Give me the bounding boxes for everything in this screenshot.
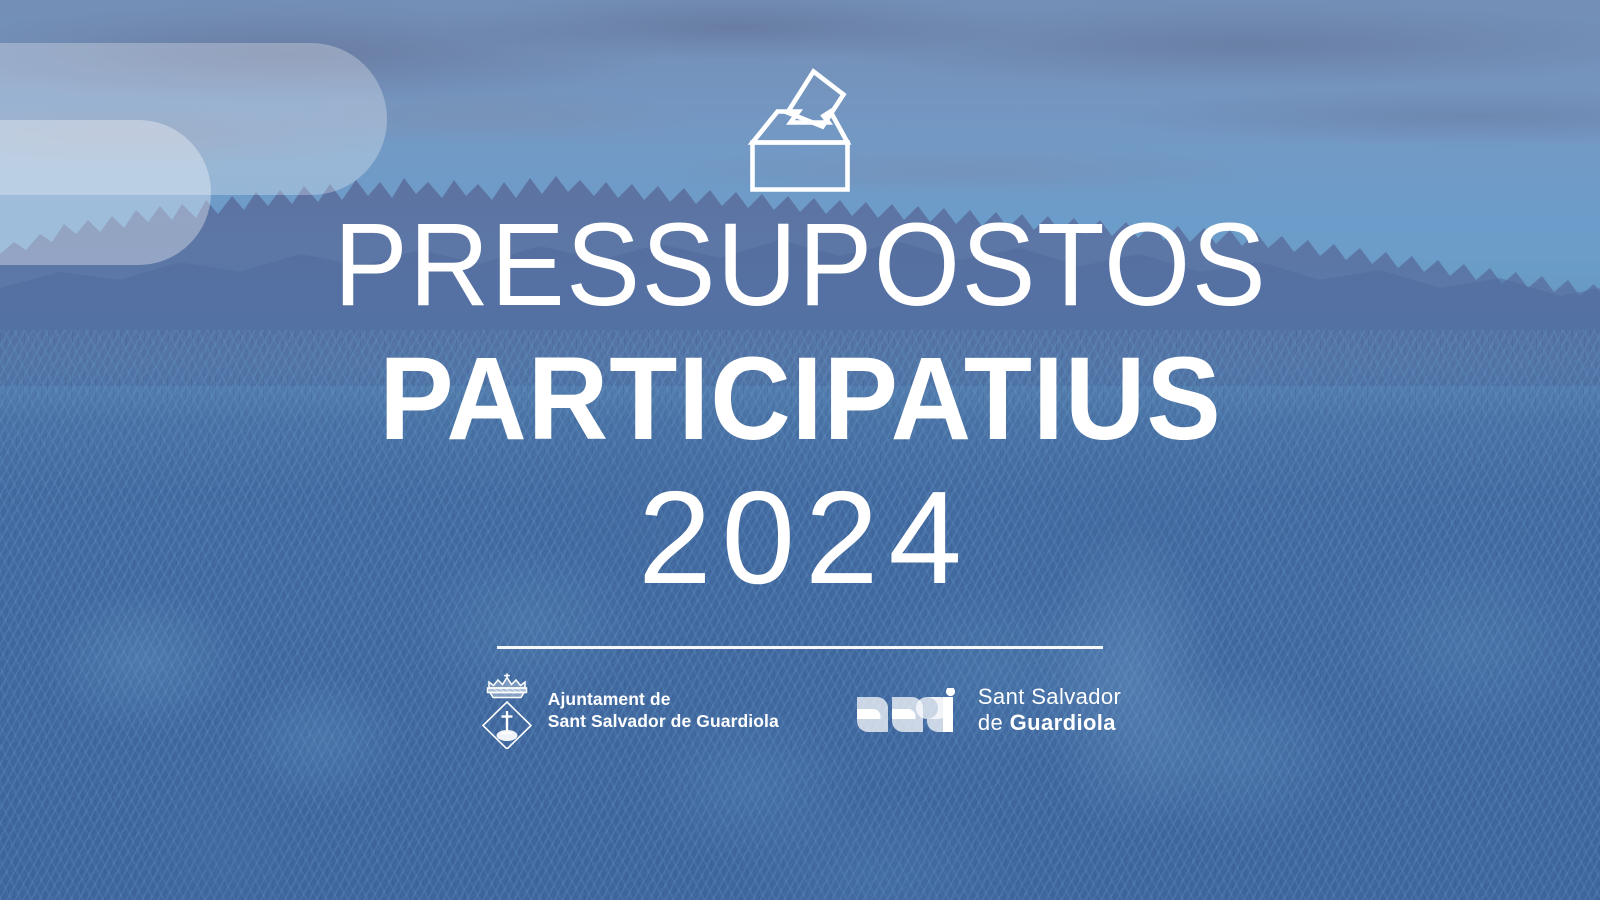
municipal-crest-icon	[479, 671, 535, 749]
title-line-2: PARTICIPATIUS	[331, 340, 1269, 458]
poster-content: PRESSUPOSTOS PARTICIPATIUS 2024	[0, 0, 1600, 900]
title-year: 2024	[304, 472, 1297, 604]
ssg-logomark-icon	[857, 688, 965, 732]
poster-titles: PRESSUPOSTOS PARTICIPATIUS 2024	[304, 206, 1297, 604]
ajuntament-logo-line-1: Ajuntament de	[548, 688, 779, 710]
ajuntament-logo-text: Ajuntament de Sant Salvador de Guardiola	[548, 688, 779, 733]
poster-canvas: PRESSUPOSTOS PARTICIPATIUS 2024	[0, 0, 1600, 900]
ssg-logo-line-2-light: de	[978, 710, 1010, 735]
horizontal-divider	[497, 646, 1103, 649]
ajuntament-logo: Ajuntament de Sant Salvador de Guardiola	[479, 671, 779, 749]
title-line-1: PRESSUPOSTOS	[333, 206, 1266, 324]
ajuntament-logo-line-2: Sant Salvador de Guardiola	[548, 710, 779, 732]
ssg-logo-line-1: Sant Salvador	[978, 684, 1121, 710]
logo-row: Ajuntament de Sant Salvador de Guardiola	[479, 671, 1122, 749]
ssg-logo-line-2-bold: Guardiola	[1010, 710, 1116, 735]
ssg-logo-text: Sant Salvador de Guardiola	[978, 684, 1121, 736]
ballot-box-icon	[744, 66, 856, 192]
ssg-logo: Sant Salvador de Guardiola	[857, 684, 1121, 736]
ssg-logo-line-2: de Guardiola	[978, 710, 1121, 736]
